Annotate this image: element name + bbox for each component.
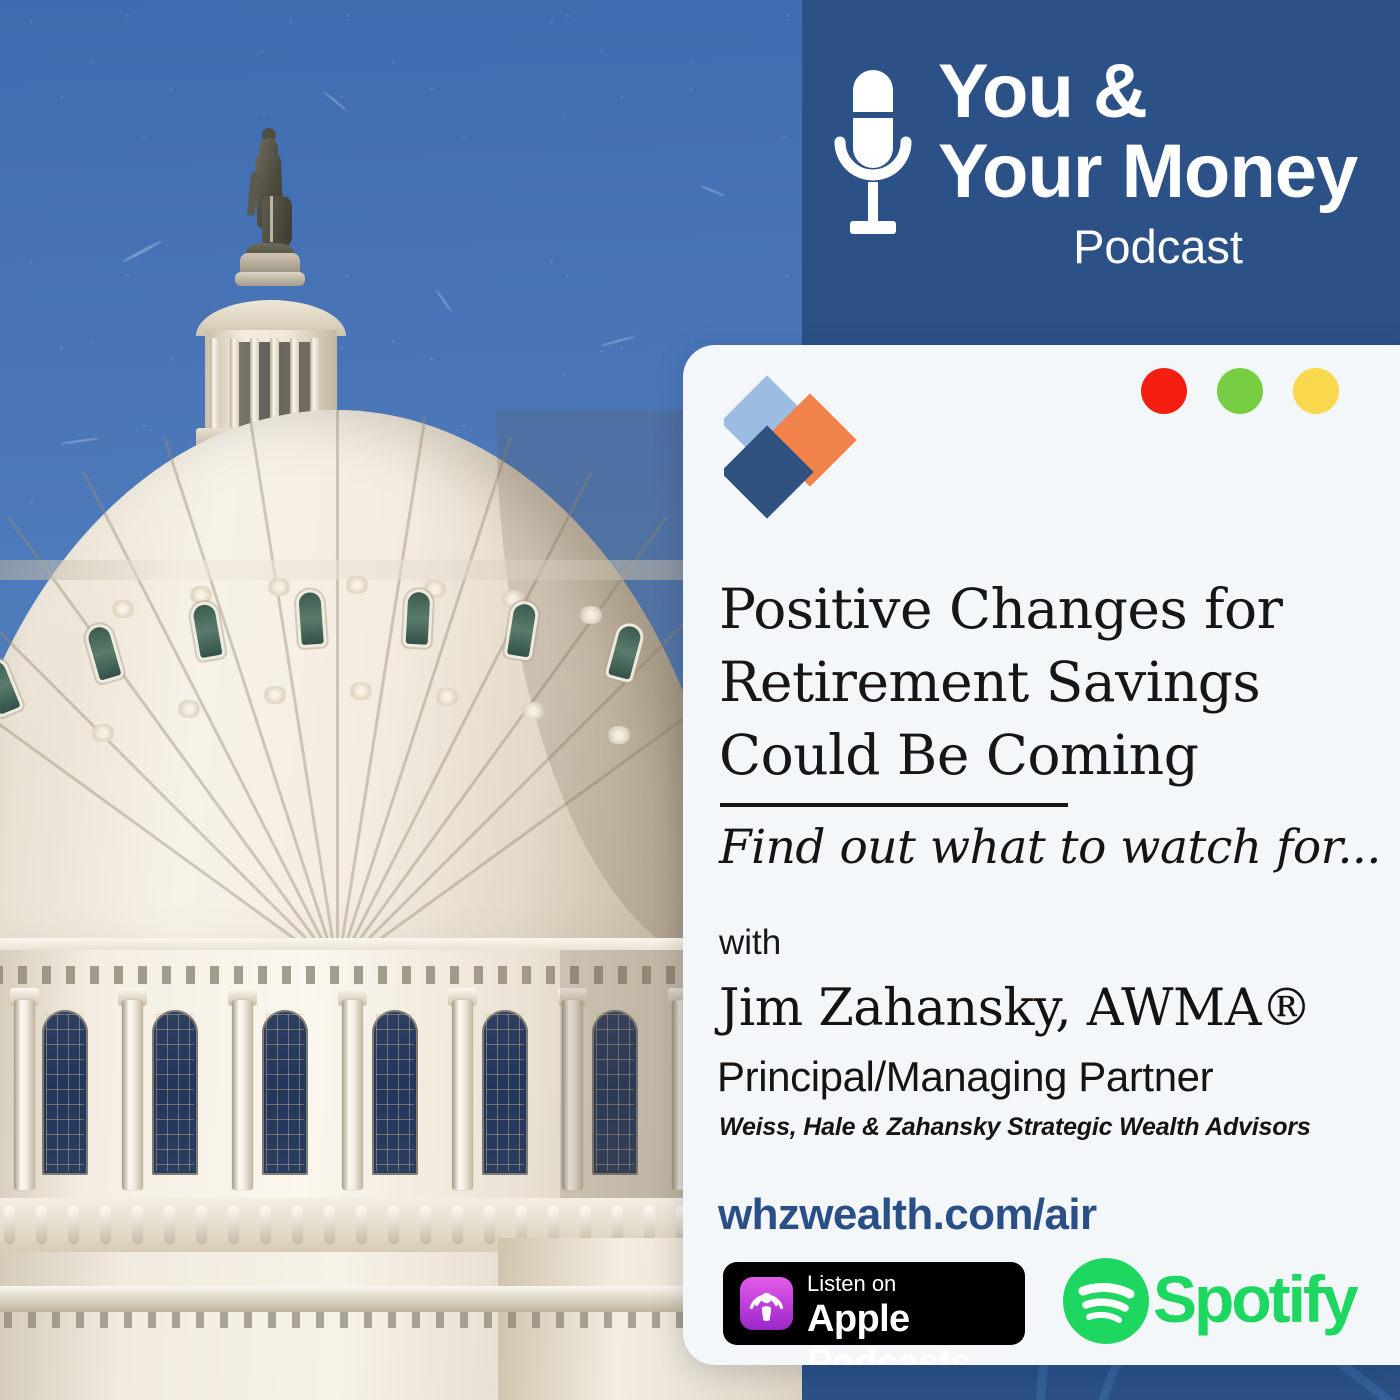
host-role: Principal/Managing Partner xyxy=(717,1053,1213,1101)
website-url[interactable]: whzwealth.com/air xyxy=(718,1190,1097,1240)
spotify-icon xyxy=(1061,1256,1151,1346)
minimize-dot[interactable] xyxy=(1217,368,1263,414)
title-divider xyxy=(720,803,1068,807)
brand-line-1: You & xyxy=(938,52,1388,132)
podcast-cover-art: You & Your Money Podcast Positive Change… xyxy=(0,0,1400,1400)
episode-card: Positive Changes for Retirement Savings … xyxy=(683,345,1400,1365)
spotify-wordmark: Spotify xyxy=(1153,1261,1356,1337)
host-name: Jim Zahansky, AWMA® xyxy=(719,979,1312,1038)
apple-podcasts-badge[interactable]: Listen on Apple Podcasts xyxy=(723,1262,1025,1345)
whz-diamond-logo-icon xyxy=(724,367,874,527)
apple-badge-line2: Apple Podcasts xyxy=(807,1297,1025,1365)
microphone-icon xyxy=(834,66,912,256)
close-dot[interactable] xyxy=(1141,368,1187,414)
maximize-dot[interactable] xyxy=(1293,368,1339,414)
apple-podcasts-icon xyxy=(740,1277,793,1330)
spotify-badge[interactable]: Spotify xyxy=(1061,1253,1361,1349)
brand-subtitle: Podcast xyxy=(938,220,1378,274)
brand-line-2: Your Money xyxy=(938,132,1388,212)
episode-subtitle: Find out what to watch for... xyxy=(719,819,1379,877)
episode-title: Positive Changes for Retirement Savings … xyxy=(719,573,1367,792)
capitol-dome-photo xyxy=(0,0,802,1400)
window-dots xyxy=(1141,368,1339,414)
with-label: with xyxy=(719,923,781,963)
apple-badge-line1: Listen on xyxy=(807,1271,1025,1297)
firm-name: Weiss, Hale & Zahansky Strategic Wealth … xyxy=(719,1113,1311,1142)
